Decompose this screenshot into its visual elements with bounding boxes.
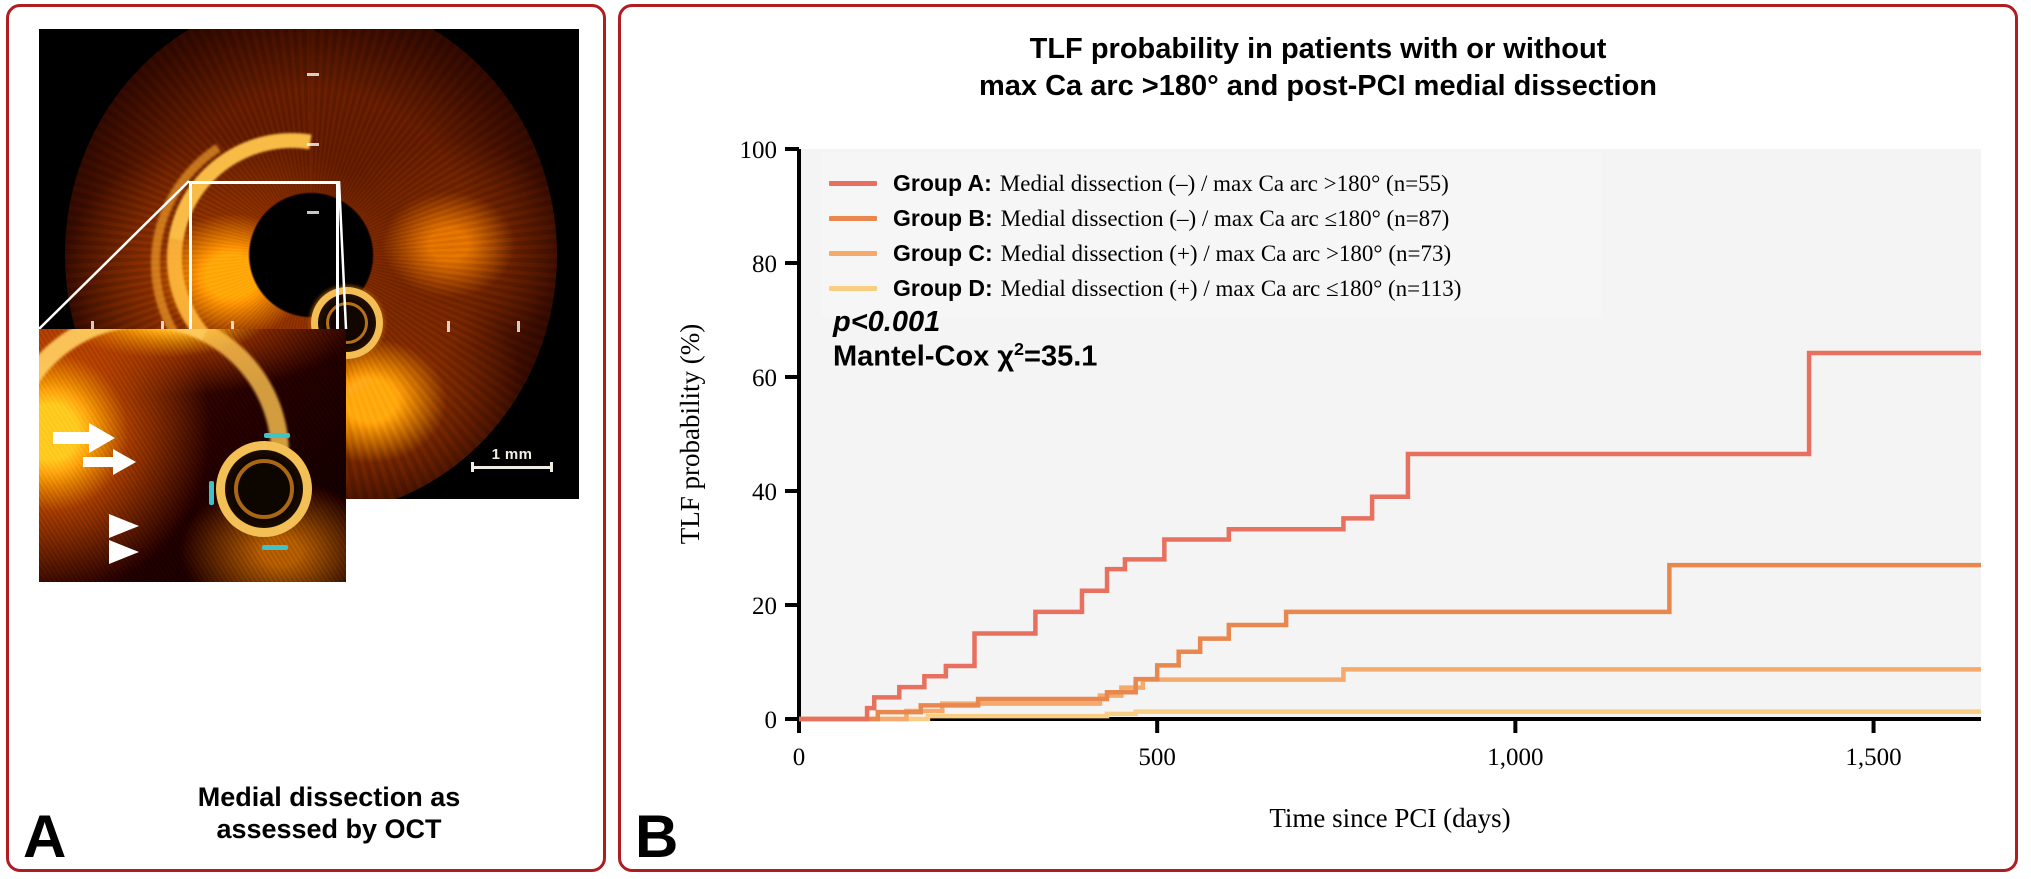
legend-item-group-d[interactable]: Group D: Medial dissection (+) / max Ca … bbox=[829, 271, 1591, 306]
dissection-arrowhead-icon bbox=[109, 537, 143, 567]
panel-a: 1 mm bbox=[6, 4, 606, 872]
legend-label-d: Group D: bbox=[893, 275, 993, 302]
x-axis-title: Time since PCI (days) bbox=[1269, 803, 1510, 833]
y-tick-label: 60 bbox=[752, 365, 777, 392]
legend-label-b: Group B: bbox=[893, 205, 993, 232]
x-tick-label: 1,500 bbox=[1845, 744, 1901, 771]
legend-desc-d: Medial dissection (+) / max Ca arc ≤180°… bbox=[1001, 276, 1462, 302]
p-italic: p<0.001 bbox=[833, 306, 940, 338]
panel-a-caption-line1: Medial dissection as bbox=[55, 782, 603, 813]
oct-radial-tick bbox=[447, 321, 450, 332]
y-tick-label: 20 bbox=[752, 593, 777, 620]
y-tick-label: 40 bbox=[752, 479, 777, 506]
legend-label-c: Group C: bbox=[893, 240, 993, 267]
legend-desc-c: Medial dissection (+) / max Ca arc >180°… bbox=[1001, 241, 1452, 267]
mantel-cox-prefix: Mantel-Cox χ bbox=[833, 341, 1014, 373]
oct-magnified-inset bbox=[39, 329, 346, 582]
scale-bar-label: 1 mm bbox=[471, 446, 553, 463]
mantel-cox-text: Mantel-Cox χ2=35.1 bbox=[833, 339, 1097, 374]
legend-label-a: Group A: bbox=[893, 170, 992, 197]
plot-svg: 02040608010005001,0001,500Time since PCI… bbox=[621, 7, 2021, 875]
legend-item-group-c[interactable]: Group C: Medial dissection (+) / max Ca … bbox=[829, 236, 1591, 271]
dissection-arrow-icon bbox=[83, 447, 143, 477]
legend-color-swatch-d bbox=[829, 286, 877, 291]
y-axis-title: TLF probability (%) bbox=[675, 324, 705, 544]
panel-b-letter: B bbox=[635, 807, 677, 867]
p-value-text: p<0.001 bbox=[833, 305, 1097, 339]
panel-b: TLF probability in patients with or with… bbox=[618, 4, 2018, 872]
stent-strut-marker bbox=[262, 545, 288, 550]
oct-radial-tick bbox=[307, 73, 319, 76]
y-tick-label: 80 bbox=[752, 251, 777, 278]
y-tick-label: 0 bbox=[765, 707, 778, 734]
legend-item-group-a[interactable]: Group A: Medial dissection (–) / max Ca … bbox=[829, 166, 1591, 201]
panel-a-caption-line2: assessed by OCT bbox=[55, 814, 603, 845]
x-tick-label: 500 bbox=[1138, 744, 1176, 771]
legend-color-swatch-a bbox=[829, 181, 877, 186]
x-tick-label: 1,000 bbox=[1487, 744, 1543, 771]
panel-a-caption: Medial dissection as assessed by OCT bbox=[9, 782, 603, 845]
chart-legend: Group A: Medial dissection (–) / max Ca … bbox=[821, 152, 1601, 318]
mantel-cox-value: =35.1 bbox=[1024, 341, 1097, 373]
legend-color-swatch-c bbox=[829, 251, 877, 256]
legend-desc-a: Medial dissection (–) / max Ca arc >180°… bbox=[1000, 171, 1449, 197]
legend-desc-b: Medial dissection (–) / max Ca arc ≤180°… bbox=[1001, 206, 1450, 232]
figure-root: 1 mm bbox=[0, 0, 2031, 879]
x-tick-label: 0 bbox=[793, 744, 806, 771]
oct-radial-tick bbox=[307, 143, 319, 146]
stent-strut-marker bbox=[209, 481, 214, 505]
statistics-annotation: p<0.001 Mantel-Cox χ2=35.1 bbox=[833, 305, 1097, 374]
y-tick-label: 100 bbox=[740, 137, 778, 164]
oct-inset-catheter-ring bbox=[216, 441, 312, 537]
panel-a-letter: A bbox=[23, 807, 65, 867]
oct-image-stack: 1 mm bbox=[39, 29, 579, 729]
mantel-cox-sup: 2 bbox=[1014, 339, 1024, 359]
scale-bar-line bbox=[471, 466, 553, 469]
oct-roi-box bbox=[189, 181, 339, 344]
scale-bar: 1 mm bbox=[471, 446, 553, 469]
kaplan-meier-plot: 02040608010005001,0001,500Time since PCI… bbox=[621, 7, 2021, 875]
oct-radial-tick bbox=[517, 321, 520, 332]
stent-strut-marker bbox=[264, 433, 290, 438]
legend-color-swatch-b bbox=[829, 216, 877, 221]
legend-item-group-b[interactable]: Group B: Medial dissection (–) / max Ca … bbox=[829, 201, 1591, 236]
